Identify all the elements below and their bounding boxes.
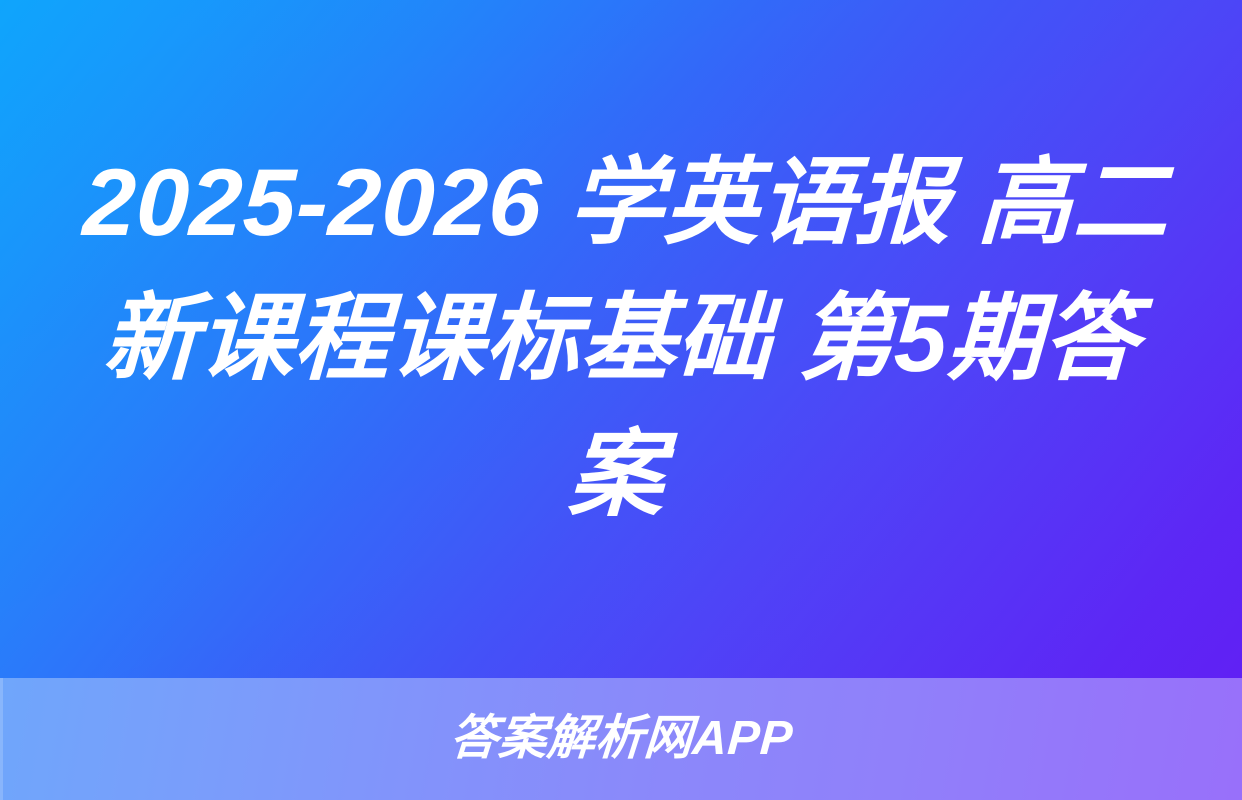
page-title: 2025-2026 学英语报 高二 新课程课标基础 第5期答案 — [62, 135, 1180, 543]
app-brand-label: 答案解析网APP — [448, 715, 794, 763]
answer-poster: 2025-2026 学英语报 高二 新课程课标基础 第5期答案 答案解析网APP — [0, 0, 1242, 800]
hero-banner: 2025-2026 学英语报 高二 新课程课标基础 第5期答案 — [0, 0, 1242, 678]
hero-content: 2025-2026 学英语报 高二 新课程课标基础 第5期答案 — [61, 135, 1181, 543]
watermark-bar: 答案解析网APP — [0, 678, 1242, 800]
footer-left-edge — [0, 678, 3, 800]
